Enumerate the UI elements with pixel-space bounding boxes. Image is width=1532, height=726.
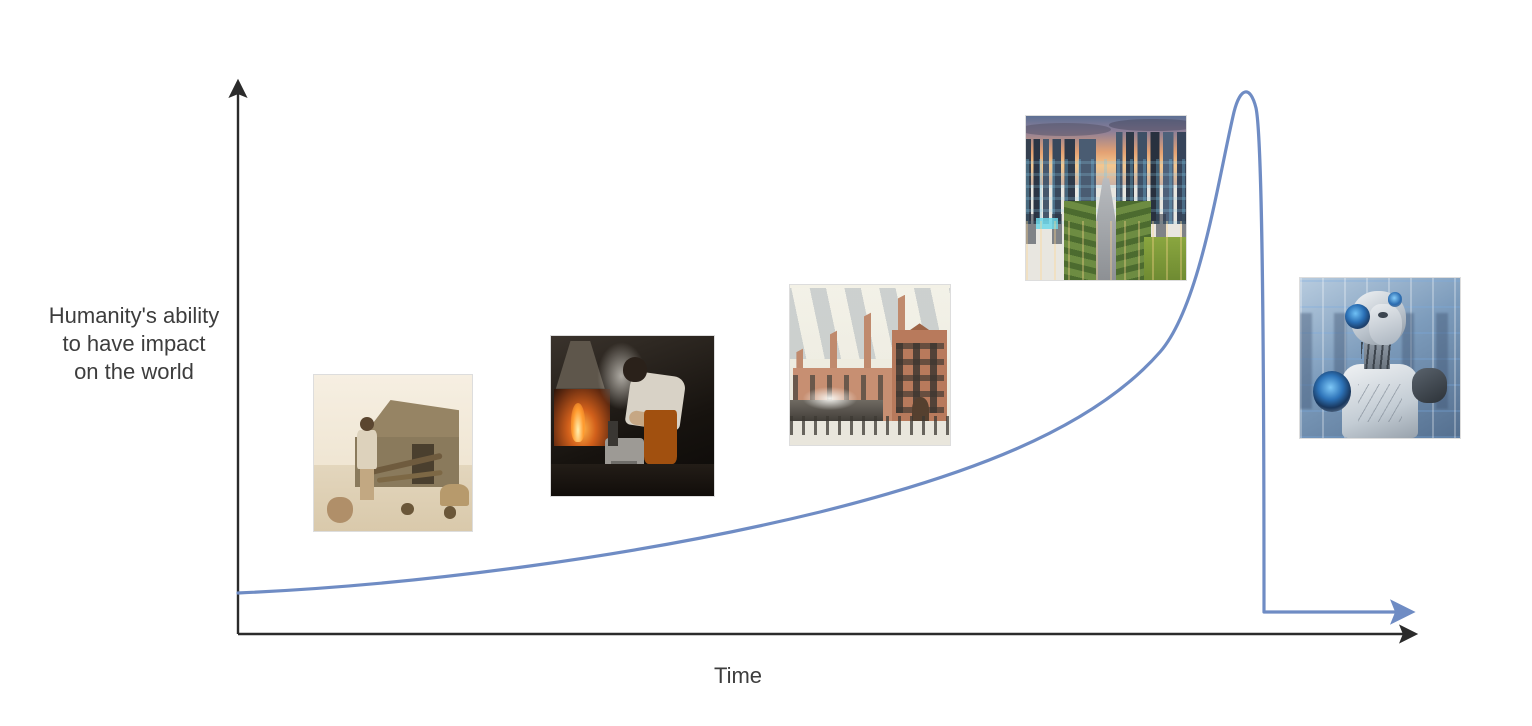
- blacksmith-forge-illustration: [551, 336, 714, 496]
- agriculture-illustration: [314, 375, 472, 531]
- industrial-factory-illustration: [790, 285, 950, 445]
- x-axis-label: Time: [618, 662, 858, 690]
- figure-canvas: Humanity's ability to have impact on the…: [0, 0, 1532, 726]
- modern-city-skyline-illustration: [1026, 116, 1186, 280]
- y-axis-label: Humanity's ability to have impact on the…: [48, 302, 220, 386]
- ai-humanoid-robot-illustration: [1300, 278, 1460, 438]
